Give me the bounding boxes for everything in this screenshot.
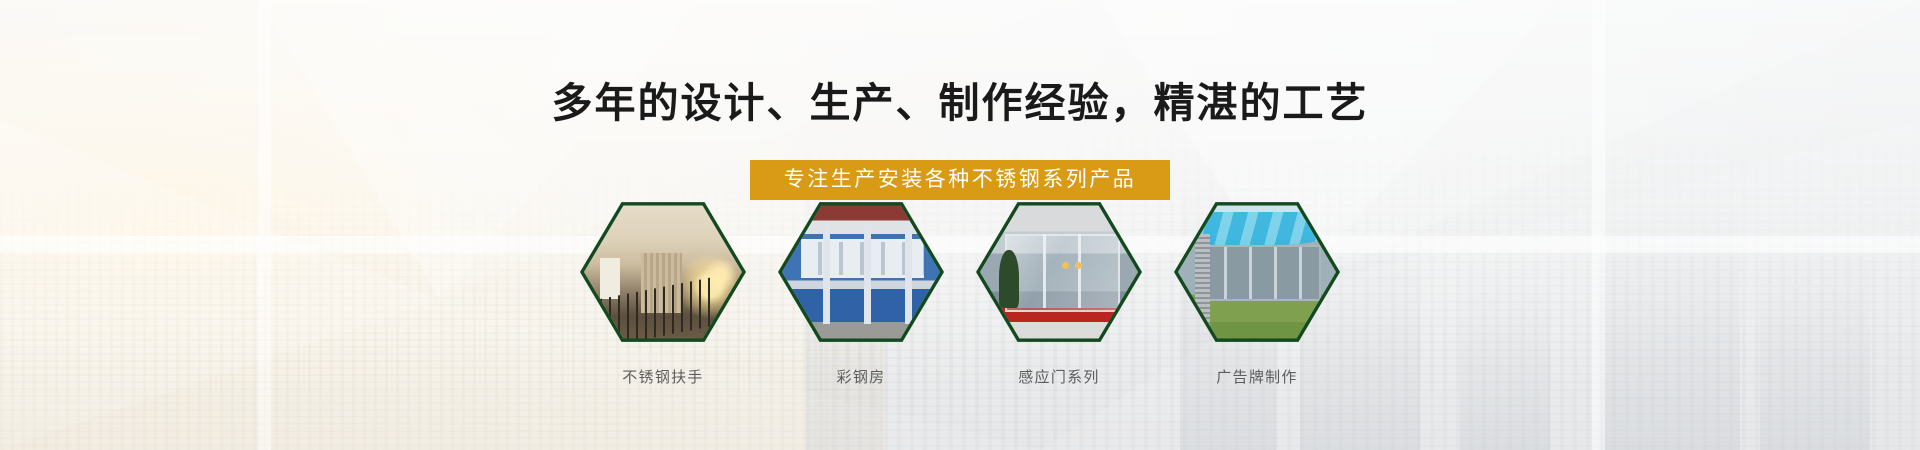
product-tile-steel-cabin[interactable]: 彩钢房: [778, 200, 944, 387]
hexagon-image-handrail: [584, 204, 742, 341]
photo-post-1: [823, 225, 830, 324]
product-tile-label: 不锈钢扶手: [622, 366, 704, 387]
banner-badge-container: 专注生产安装各种不锈钢系列产品: [0, 160, 1920, 200]
sensor-door-photo: [980, 204, 1138, 341]
product-tile-billboard[interactable]: 广告牌制作: [1174, 200, 1340, 387]
hexagon-image-billboard: [1178, 204, 1336, 341]
hexagon-frame: [976, 200, 1142, 344]
photo-window: [600, 258, 621, 299]
photo-display-board: [1200, 245, 1321, 301]
billboard-photo: [1178, 204, 1336, 341]
product-tiles: 不锈钢扶手 彩钢房: [0, 200, 1920, 387]
hexagon-frame: [1174, 200, 1340, 344]
steel-cabin-photo: [782, 204, 940, 341]
hexagon-image-sensor-door: [980, 204, 1138, 341]
handrail-photo: [584, 204, 742, 341]
product-tile-sensor-door[interactable]: 感应门系列: [976, 200, 1142, 387]
promo-banner: 多年的设计、生产、制作经验，精湛的工艺 专注生产安装各种不锈钢系列产品 不锈钢扶…: [0, 0, 1920, 450]
photo-door-mullion-2: [1078, 234, 1081, 308]
product-tile-handrail[interactable]: 不锈钢扶手: [580, 200, 746, 387]
photo-door-mullion-1: [1043, 234, 1046, 308]
banner-subtitle-badge: 专注生产安装各种不锈钢系列产品: [750, 160, 1171, 200]
photo-post-2: [864, 225, 871, 324]
product-tile-label: 彩钢房: [837, 366, 886, 387]
hexagon-image-steel-cabin: [782, 204, 940, 341]
photo-post-3: [905, 225, 912, 324]
hexagon-frame: [580, 200, 746, 344]
hexagon-frame: [778, 200, 944, 344]
photo-potted-plant: [999, 250, 1020, 308]
photo-glass-door: [1005, 234, 1120, 312]
photo-steel-pillar: [1195, 234, 1210, 327]
banner-headline: 多年的设计、生产、制作经验，精湛的工艺: [0, 78, 1920, 129]
product-tile-label: 感应门系列: [1018, 366, 1100, 387]
banner-content: 多年的设计、生产、制作经验，精湛的工艺 专注生产安装各种不锈钢系列产品 不锈钢扶…: [0, 0, 1920, 450]
product-tile-label: 广告牌制作: [1216, 366, 1298, 387]
